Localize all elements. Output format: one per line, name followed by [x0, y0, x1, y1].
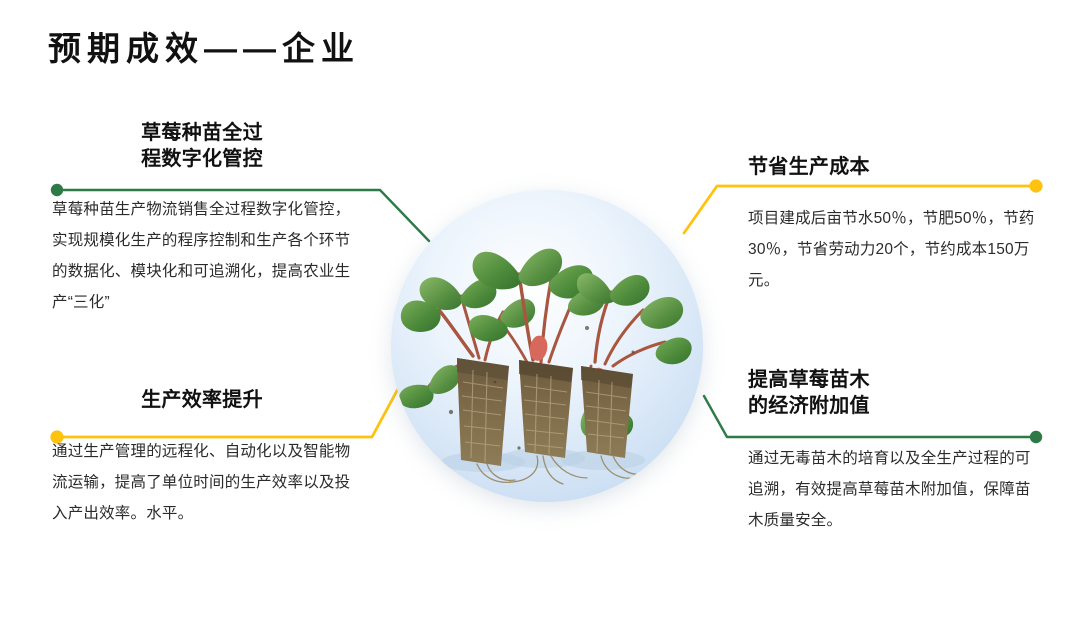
card-bottom-right: 提高草莓苗木 的经济附加值 通过无毒苗木的培育以及全生产过程的可追溯，有效提高草… — [748, 368, 1038, 536]
card-bottom-left-heading: 生产效率提升 — [52, 388, 352, 414]
card-top-left-heading: 草莓种苗全过 程数字化管控 — [52, 121, 352, 172]
card-top-right-heading: 节省生产成本 — [748, 155, 1038, 181]
card-bottom-right-body: 通过无毒苗木的培育以及全生产过程的可追溯，有效提高草莓苗木附加值，保障苗木质量安… — [748, 443, 1038, 536]
page-title: 预期成效——企业 — [48, 22, 360, 70]
card-top-right-body: 项目建成后亩节水50％，节肥50％，节药30％，节省劳动力20个，节约成本150… — [748, 203, 1038, 296]
slide-canvas: 预期成效——企业 — [0, 0, 1080, 624]
card-bottom-left-body: 通过生产管理的远程化、自动化以及智能物流运输，提高了单位时间的生产效率以及投入产… — [52, 436, 352, 529]
card-top-left-body: 草莓种苗生产物流销售全过程数字化管控，实现规模化生产的程序控制和生产各个环节的数… — [52, 194, 352, 318]
strawberry-seedlings-photo — [391, 190, 703, 502]
card-top-left: 草莓种苗全过 程数字化管控 草莓种苗生产物流销售全过程数字化管控，实现规模化生产… — [52, 121, 352, 318]
card-bottom-right-heading: 提高草莓苗木 的经济附加值 — [748, 368, 1038, 419]
card-bottom-left: 生产效率提升 通过生产管理的远程化、自动化以及智能物流运输，提高了单位时间的生产… — [52, 388, 352, 529]
card-top-right: 节省生产成本 项目建成后亩节水50％，节肥50％，节药30％，节省劳动力20个，… — [748, 155, 1038, 296]
